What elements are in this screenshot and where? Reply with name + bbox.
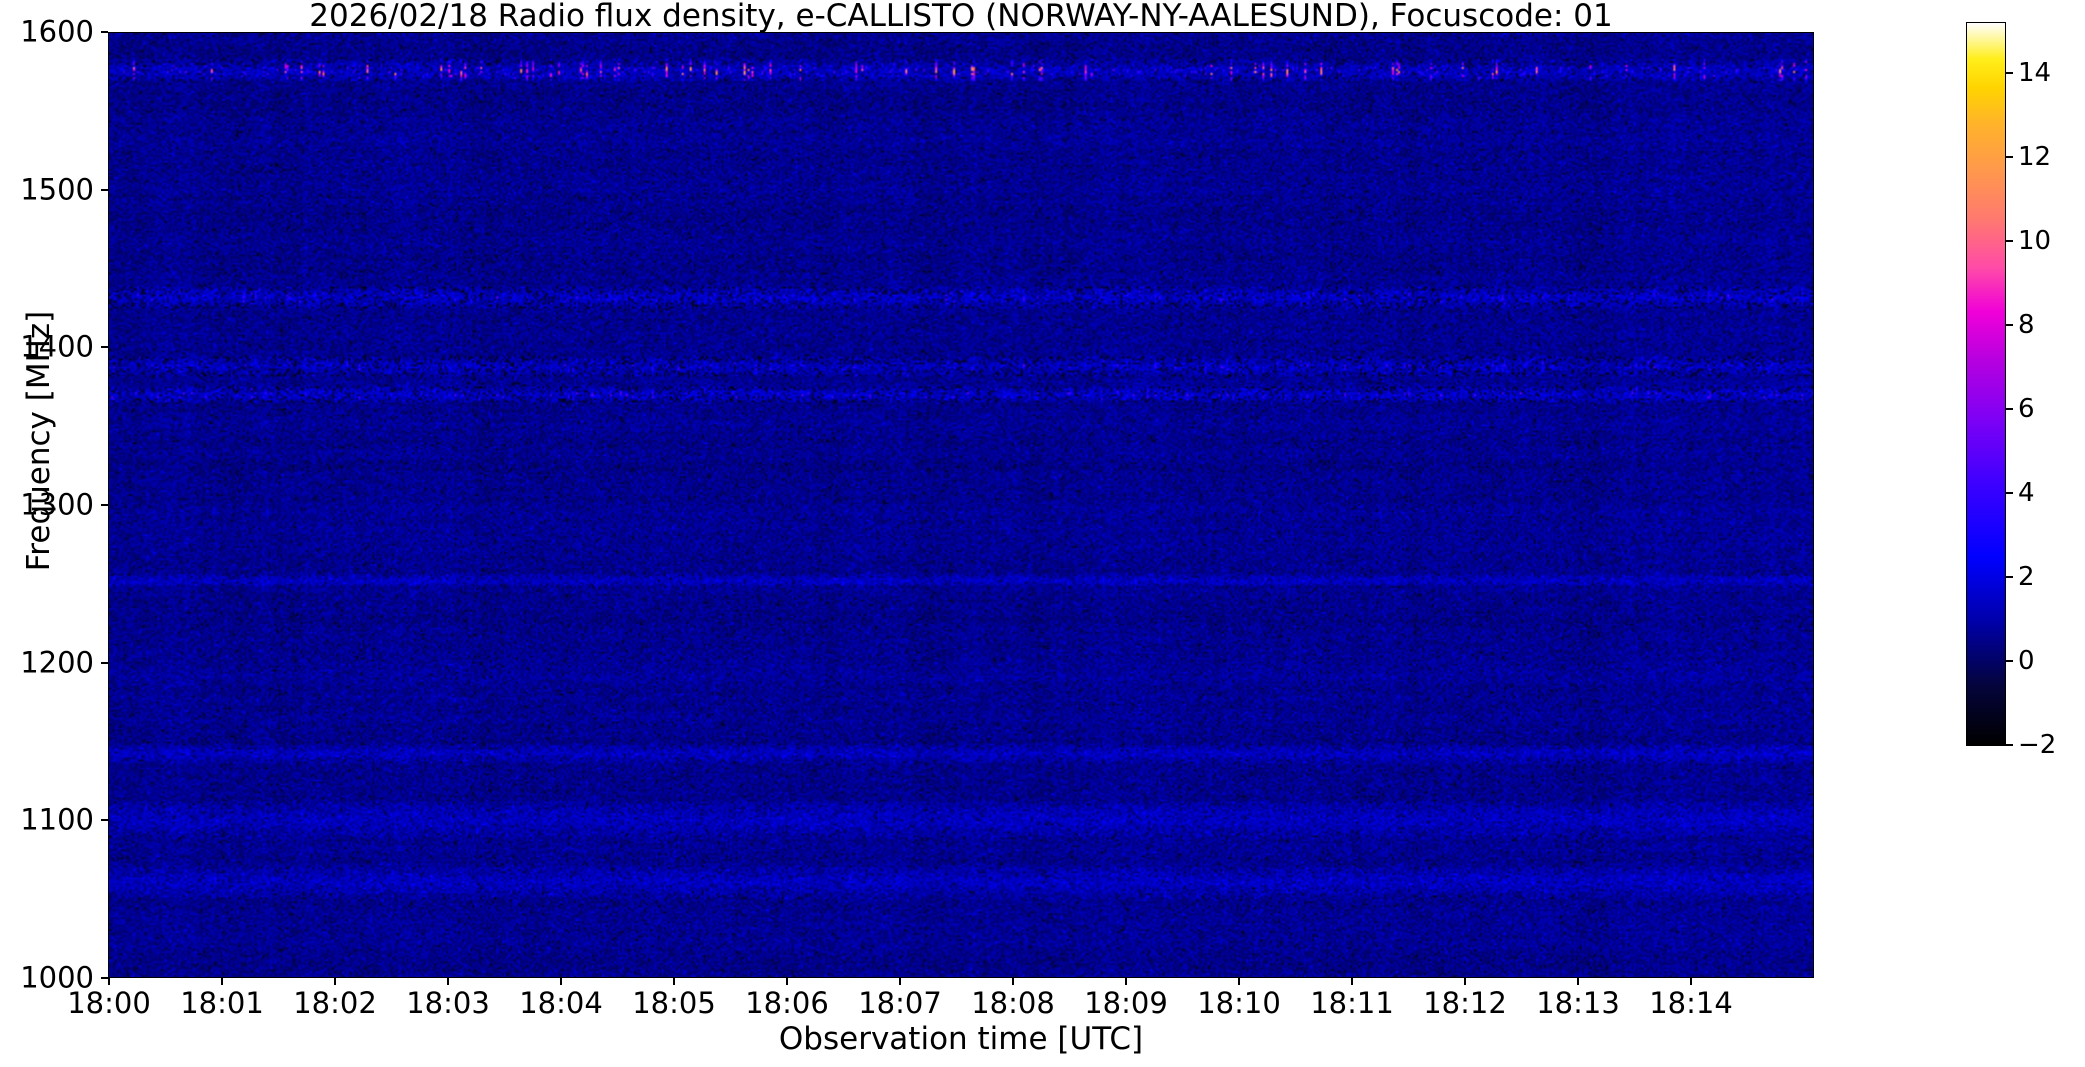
x-tick-mark xyxy=(1690,978,1692,985)
y-tick-label: 1600 xyxy=(20,18,94,47)
x-tick-mark xyxy=(334,978,336,985)
x-axis-label: Observation time [UTC] xyxy=(108,1022,1814,1056)
colorbar-tick-mark xyxy=(2006,156,2013,158)
colorbar-tick-mark xyxy=(2006,240,2013,242)
x-tick-label: 18:01 xyxy=(180,989,264,1018)
colorbar-tick-label: 12 xyxy=(2018,144,2051,170)
y-tick-mark xyxy=(101,819,108,821)
y-tick-mark xyxy=(101,189,108,191)
x-tick-mark xyxy=(1577,978,1579,985)
y-tick-label: 1500 xyxy=(20,175,94,204)
x-tick-mark xyxy=(673,978,675,985)
y-tick-label: 1100 xyxy=(20,806,94,835)
colorbar-gradient xyxy=(1967,23,2005,745)
x-tick-label: 18:10 xyxy=(1197,989,1281,1018)
y-tick-mark xyxy=(101,31,108,33)
colorbar-tick-label: 2 xyxy=(2018,564,2035,590)
x-tick-mark xyxy=(221,978,223,985)
x-tick-mark xyxy=(899,978,901,985)
x-tick-label: 18:00 xyxy=(67,989,151,1018)
colorbar-tick-mark xyxy=(2006,576,2013,578)
figure-canvas: 2026/02/18 Radio flux density, e-CALLIST… xyxy=(0,0,2085,1067)
colorbar-tick-label: 14 xyxy=(2018,60,2051,86)
x-tick-label: 18:11 xyxy=(1310,989,1394,1018)
colorbar-tick-mark xyxy=(2006,408,2013,410)
x-tick-label: 18:02 xyxy=(293,989,377,1018)
y-tick-mark xyxy=(101,662,108,664)
x-tick-mark xyxy=(447,978,449,985)
x-tick-label: 18:05 xyxy=(632,989,716,1018)
x-tick-mark xyxy=(1464,978,1466,985)
colorbar-tick-mark xyxy=(2006,492,2013,494)
colorbar xyxy=(1966,22,2006,746)
colorbar-tick-label: 6 xyxy=(2018,396,2035,422)
x-tick-mark xyxy=(108,978,110,985)
colorbar-tick-label: 10 xyxy=(2018,228,2051,254)
colorbar-tick-label: 8 xyxy=(2018,312,2035,338)
x-tick-label: 18:06 xyxy=(745,989,829,1018)
x-tick-label: 18:04 xyxy=(519,989,603,1018)
y-axis-label: Frequency [MHz] xyxy=(22,221,56,661)
colorbar-tick-label: −2 xyxy=(2018,732,2056,758)
y-tick-mark xyxy=(101,346,108,348)
colorbar-ticks: 14121086420−2 xyxy=(2006,22,2076,746)
x-axis-ticks: 18:0018:0118:0218:0318:0418:0518:0618:07… xyxy=(108,978,1814,1026)
colorbar-tick-label: 4 xyxy=(2018,480,2035,506)
spectrogram-axes[interactable] xyxy=(108,32,1814,978)
x-tick-label: 18:13 xyxy=(1536,989,1620,1018)
colorbar-tick-mark xyxy=(2006,324,2013,326)
spectrogram-canvas xyxy=(109,33,1813,977)
x-tick-mark xyxy=(560,978,562,985)
spectrogram-image xyxy=(109,33,1813,977)
x-tick-label: 18:09 xyxy=(1084,989,1168,1018)
x-tick-mark xyxy=(1125,978,1127,985)
y-tick-mark xyxy=(101,977,108,979)
colorbar-tick-mark xyxy=(2006,72,2013,74)
x-tick-mark xyxy=(1238,978,1240,985)
x-tick-label: 18:12 xyxy=(1423,989,1507,1018)
x-tick-mark xyxy=(786,978,788,985)
x-tick-label: 18:07 xyxy=(858,989,942,1018)
x-tick-label: 18:08 xyxy=(971,989,1055,1018)
x-tick-label: 18:14 xyxy=(1649,989,1733,1018)
x-tick-mark xyxy=(1012,978,1014,985)
y-tick-mark xyxy=(101,504,108,506)
colorbar-tick-mark xyxy=(2006,744,2013,746)
x-tick-mark xyxy=(1351,978,1353,985)
x-tick-label: 18:03 xyxy=(406,989,490,1018)
colorbar-tick-label: 0 xyxy=(2018,648,2035,674)
page-title: 2026/02/18 Radio flux density, e-CALLIST… xyxy=(108,0,1814,33)
colorbar-tick-mark xyxy=(2006,660,2013,662)
